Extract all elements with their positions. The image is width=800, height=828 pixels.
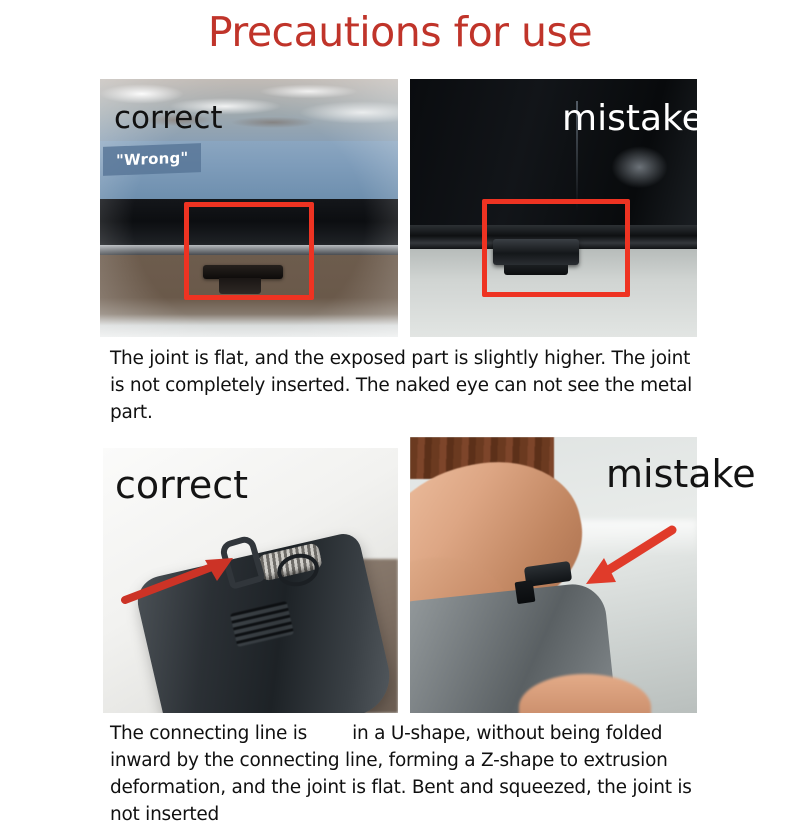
label-correct-top-left: correct xyxy=(114,103,223,134)
label-correct-bottom-left: correct xyxy=(115,466,248,504)
label-mistake-bottom-right: mistake xyxy=(606,455,756,493)
caption-top: The joint is flat, and the exposed part … xyxy=(110,345,695,426)
photo-panel-bottom-left: correct xyxy=(103,448,398,713)
highlight-rectangle-top-right xyxy=(482,199,630,297)
page-title: Precautions for use xyxy=(0,8,800,56)
caption-bottom: The connecting line is in a U-shape, wit… xyxy=(110,720,700,828)
photo-panel-top-left: correct "Wrong" xyxy=(100,79,398,337)
photo-panel-top-right: mistake xyxy=(410,79,697,337)
arrow-pointing-down-left-icon xyxy=(550,522,680,602)
wrong-watermark-badge: "Wrong" xyxy=(103,143,201,176)
highlight-rectangle-top-left xyxy=(184,202,314,300)
label-mistake-top-right: mistake xyxy=(562,101,697,137)
arrow-pointing-up-right-icon xyxy=(121,548,251,608)
